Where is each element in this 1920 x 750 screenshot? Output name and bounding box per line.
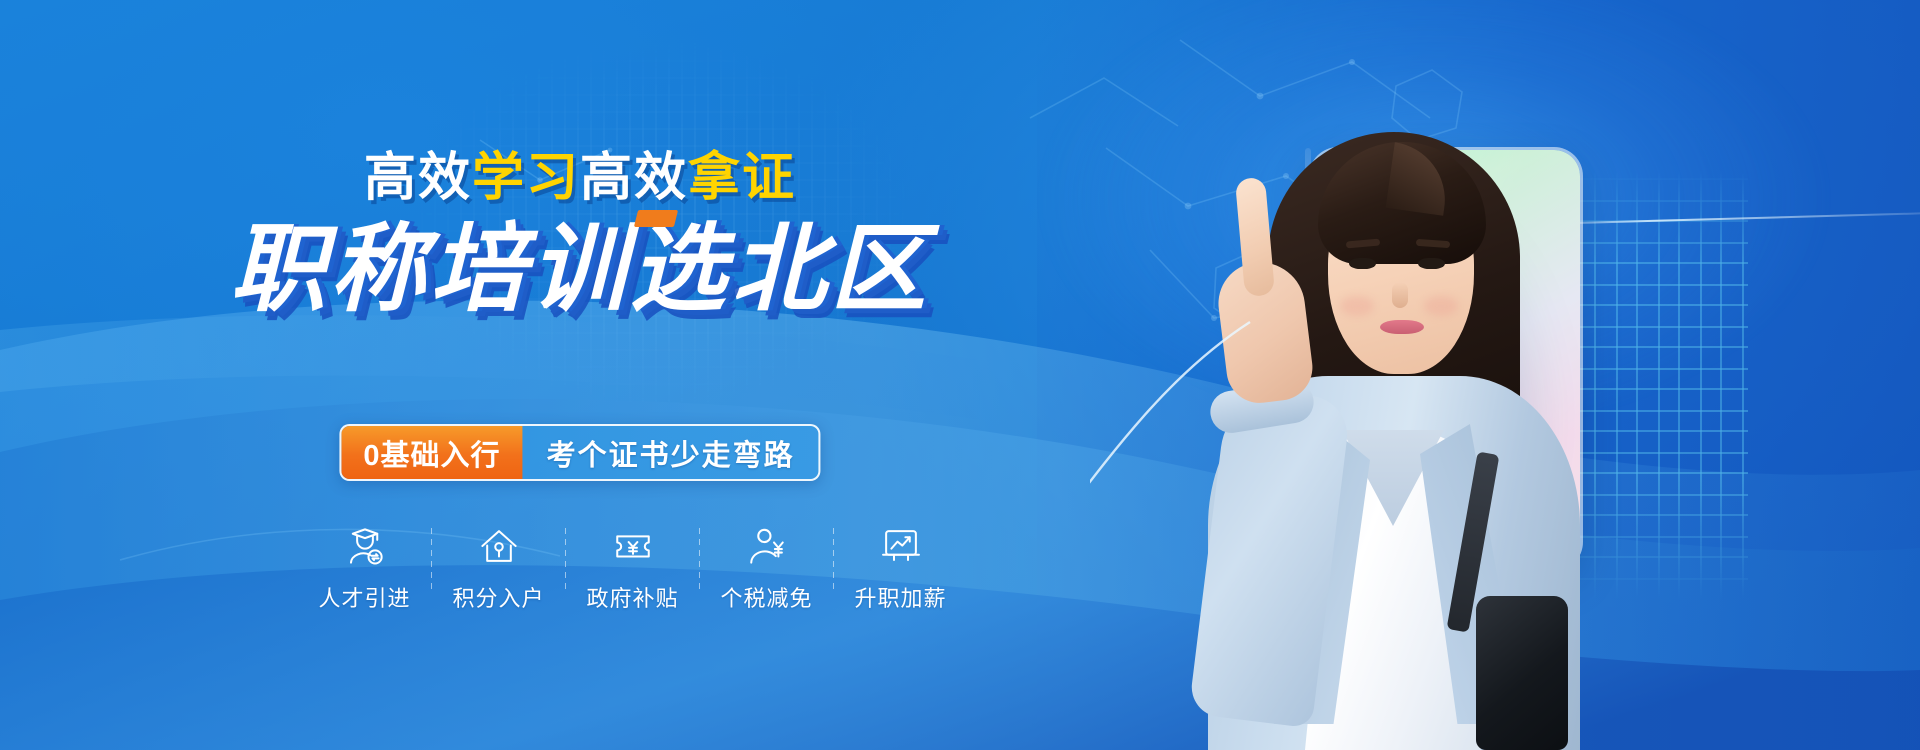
person-yuan-icon	[746, 525, 788, 567]
kicker-part-2-highlight: 学习	[472, 149, 580, 207]
feature-label: 积分入户	[452, 581, 544, 613]
feature-divider	[833, 528, 834, 594]
graduate-person-icon	[344, 525, 386, 567]
feature-item-gov-subsidy[interactable]: 政府补贴	[566, 525, 699, 613]
feature-divider	[565, 528, 566, 594]
copy-block: 高效学习高效拿证 职称培训选北区 0基础入行 考个证书少走弯路	[0, 0, 1160, 750]
eye-left	[1349, 258, 1376, 269]
nose	[1392, 282, 1408, 308]
headline-char-0: 职	[230, 216, 330, 323]
kicker-line: 高效学习高效拿证	[0, 152, 1160, 204]
headline-char-4-accent: 选	[630, 216, 730, 323]
feature-item-talent-intro[interactable]: 人才引进	[298, 525, 431, 613]
cheek-right	[1424, 296, 1458, 316]
feature-label: 升职加薪	[854, 581, 946, 613]
chart-growth-icon	[880, 525, 922, 567]
hero-image-group	[1090, 0, 1650, 750]
woman-pointing-photo	[1090, 0, 1650, 750]
feature-item-points-residency[interactable]: 积分入户	[432, 525, 565, 613]
headline-char-1: 称	[330, 216, 430, 323]
feature-item-tax-relief[interactable]: 个税减免	[700, 525, 833, 613]
house-pin-icon	[478, 525, 520, 567]
eye-right	[1418, 258, 1445, 269]
feature-divider	[431, 528, 432, 594]
handbag	[1476, 596, 1568, 750]
cheek-left	[1340, 296, 1374, 316]
badge-left-label: 0基础入行	[341, 426, 522, 479]
feature-label: 人才引进	[318, 581, 410, 613]
kicker-part-1: 高效	[364, 149, 472, 207]
feature-label: 政府补贴	[586, 581, 678, 613]
promo-banner: 高效学习高效拿证 职称培训选北区 0基础入行 考个证书少走弯路	[0, 0, 1920, 750]
kicker-part-4-highlight: 拿证	[688, 149, 796, 207]
badge-right-label: 考个证书少走弯路	[523, 426, 819, 479]
headline-char-5: 北	[730, 216, 830, 323]
headline: 职称培训选北区	[0, 222, 1160, 318]
feature-divider	[699, 528, 700, 594]
feature-list: 人才引进 积分入户	[298, 525, 967, 613]
subtitle-badge: 0基础入行 考个证书少走弯路	[339, 424, 820, 481]
feature-label: 个税减免	[720, 581, 812, 613]
headline-char-2: 培	[430, 216, 530, 323]
headline-char-6: 区	[830, 216, 930, 323]
kicker-part-3: 高效	[580, 149, 688, 207]
coupon-yuan-icon	[612, 525, 654, 567]
headline-char-3: 训	[530, 216, 630, 323]
feature-item-promotion-raise[interactable]: 升职加薪	[834, 525, 967, 613]
mouth	[1380, 320, 1424, 334]
